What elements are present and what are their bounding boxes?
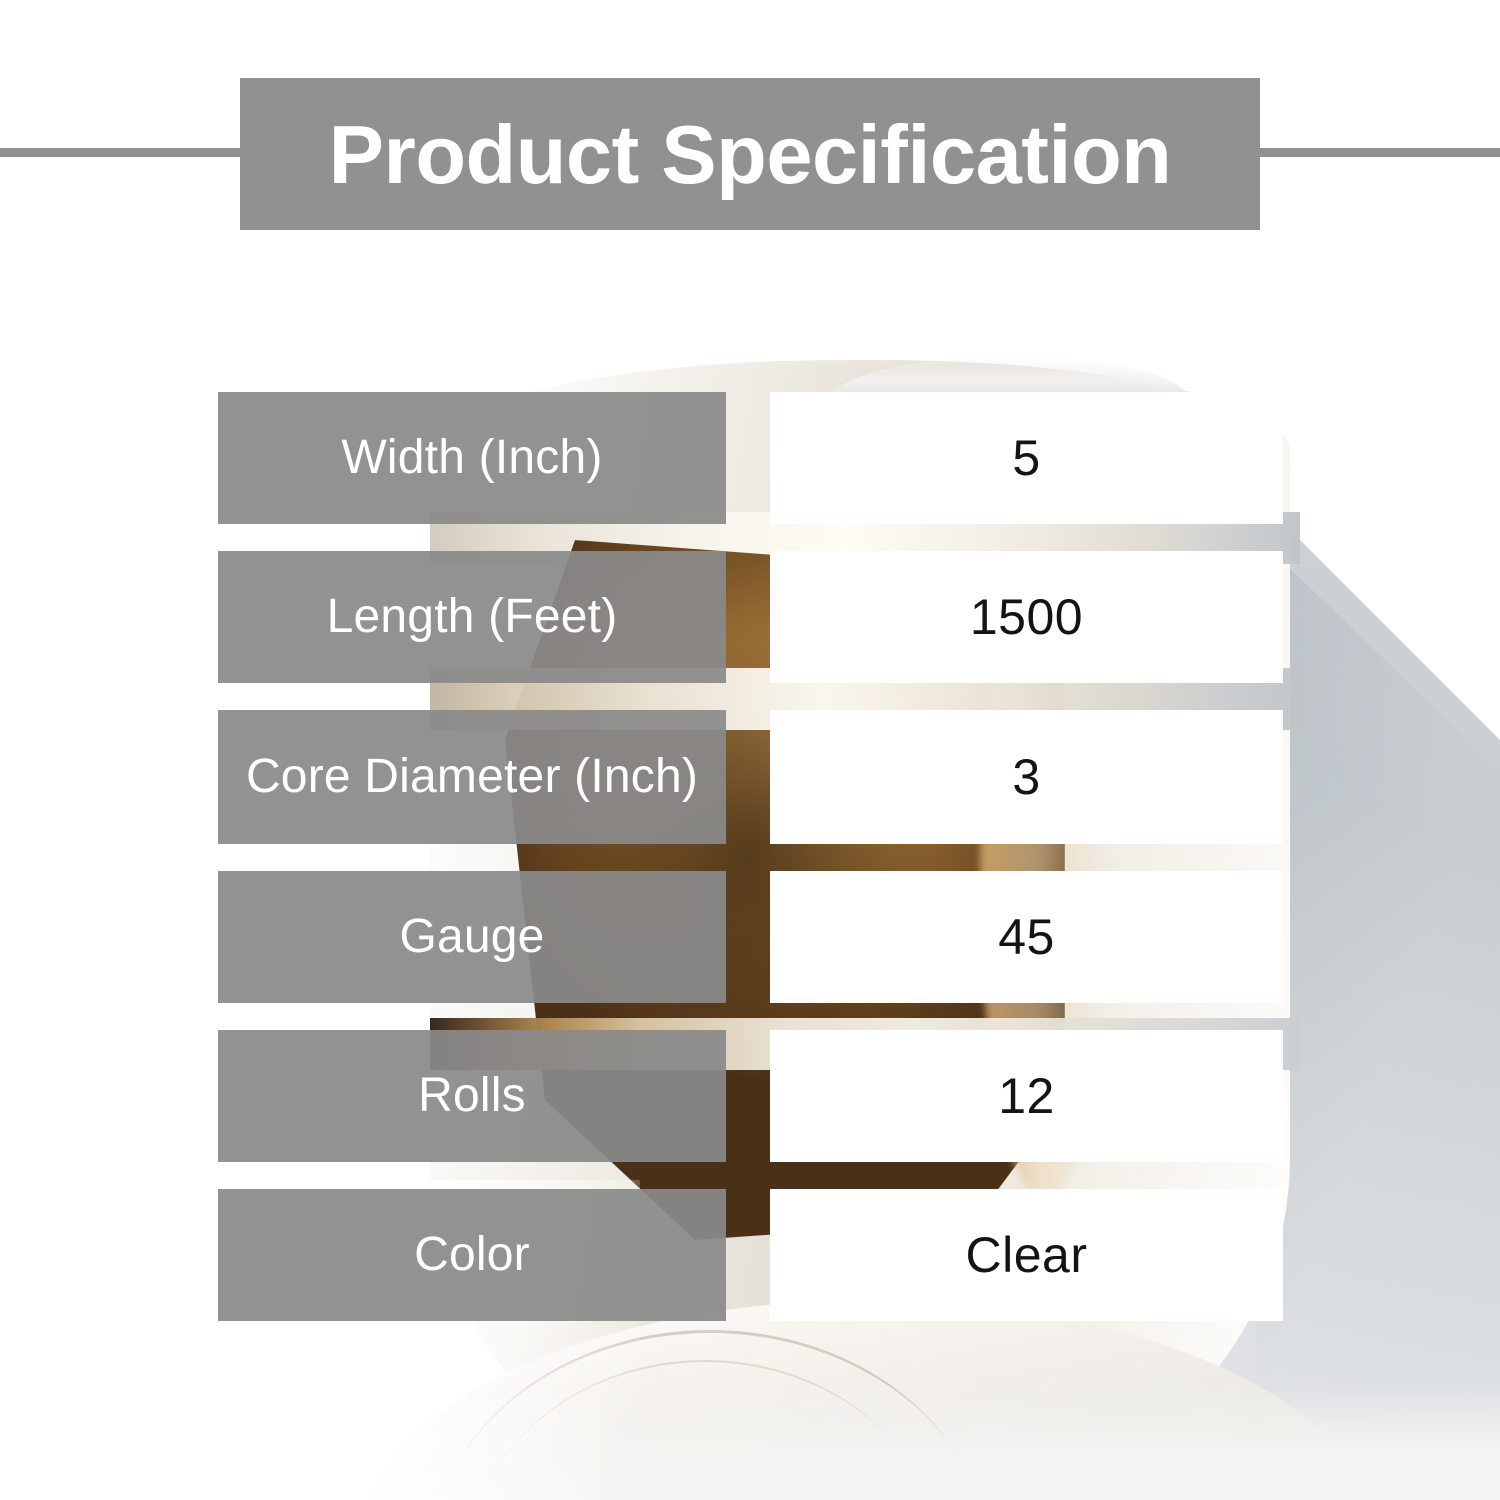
column-gap (726, 871, 770, 1003)
table-row: Core Diameter (Inch) 3 (218, 710, 1283, 844)
spec-value-cell: 5 (770, 392, 1283, 524)
spec-value-cell: 3 (770, 710, 1283, 844)
spec-label-cell: Length (Feet) (218, 551, 726, 683)
column-gap (726, 1030, 770, 1162)
spec-value-text: 45 (998, 911, 1055, 964)
specification-table: Width (Inch) 5 Length (Feet) 1500 Core D… (218, 392, 1283, 1321)
spec-value-cell: 45 (770, 871, 1283, 1003)
spec-label-text: Rolls (418, 1071, 526, 1121)
table-row: Color Clear (218, 1189, 1283, 1321)
table-row: Length (Feet) 1500 (218, 551, 1283, 683)
page-title: Product Specification (329, 113, 1172, 196)
spec-label-cell: Width (Inch) (218, 392, 726, 524)
photo-roll-lip-edge-2 (470, 1360, 940, 1500)
column-gap (726, 551, 770, 683)
spec-label-text: Core Diameter (Inch) (246, 752, 698, 802)
spec-value-text: 1500 (970, 591, 1083, 644)
spec-value-cell: 1500 (770, 551, 1283, 683)
photo-bottom-gradient (600, 1390, 1500, 1500)
spec-label-cell: Core Diameter (Inch) (218, 710, 726, 844)
spec-label-text: Width (Inch) (341, 433, 602, 483)
spec-value-cell: 12 (770, 1030, 1283, 1162)
spec-label-cell: Rolls (218, 1030, 726, 1162)
spec-value-text: 12 (998, 1070, 1055, 1123)
spec-value-text: Clear (966, 1229, 1088, 1282)
table-row: Gauge 45 (218, 871, 1283, 1003)
spec-label-text: Color (414, 1230, 530, 1280)
spec-value-cell: Clear (770, 1189, 1283, 1321)
photo-roll-lip-edge-1 (430, 1330, 990, 1500)
table-row: Rolls 12 (218, 1030, 1283, 1162)
column-gap (726, 392, 770, 524)
table-row: Width (Inch) 5 (218, 392, 1283, 524)
spec-label-text: Gauge (399, 912, 544, 962)
spec-value-text: 3 (1012, 751, 1040, 804)
product-specification-infographic: Product Specification Width (Inch) 5 Len… (0, 0, 1500, 1500)
spec-label-cell: Color (218, 1189, 726, 1321)
header-banner: Product Specification (240, 78, 1260, 230)
spec-label-cell: Gauge (218, 871, 726, 1003)
spec-label-text: Length (Feet) (327, 592, 618, 642)
spec-value-text: 5 (1012, 432, 1040, 485)
photo-surface-shadow (1255, 500, 1500, 1500)
header: Product Specification (0, 78, 1500, 230)
column-gap (726, 1189, 770, 1321)
photo-roll-bottom-lip (360, 1300, 1380, 1500)
column-gap (726, 710, 770, 844)
